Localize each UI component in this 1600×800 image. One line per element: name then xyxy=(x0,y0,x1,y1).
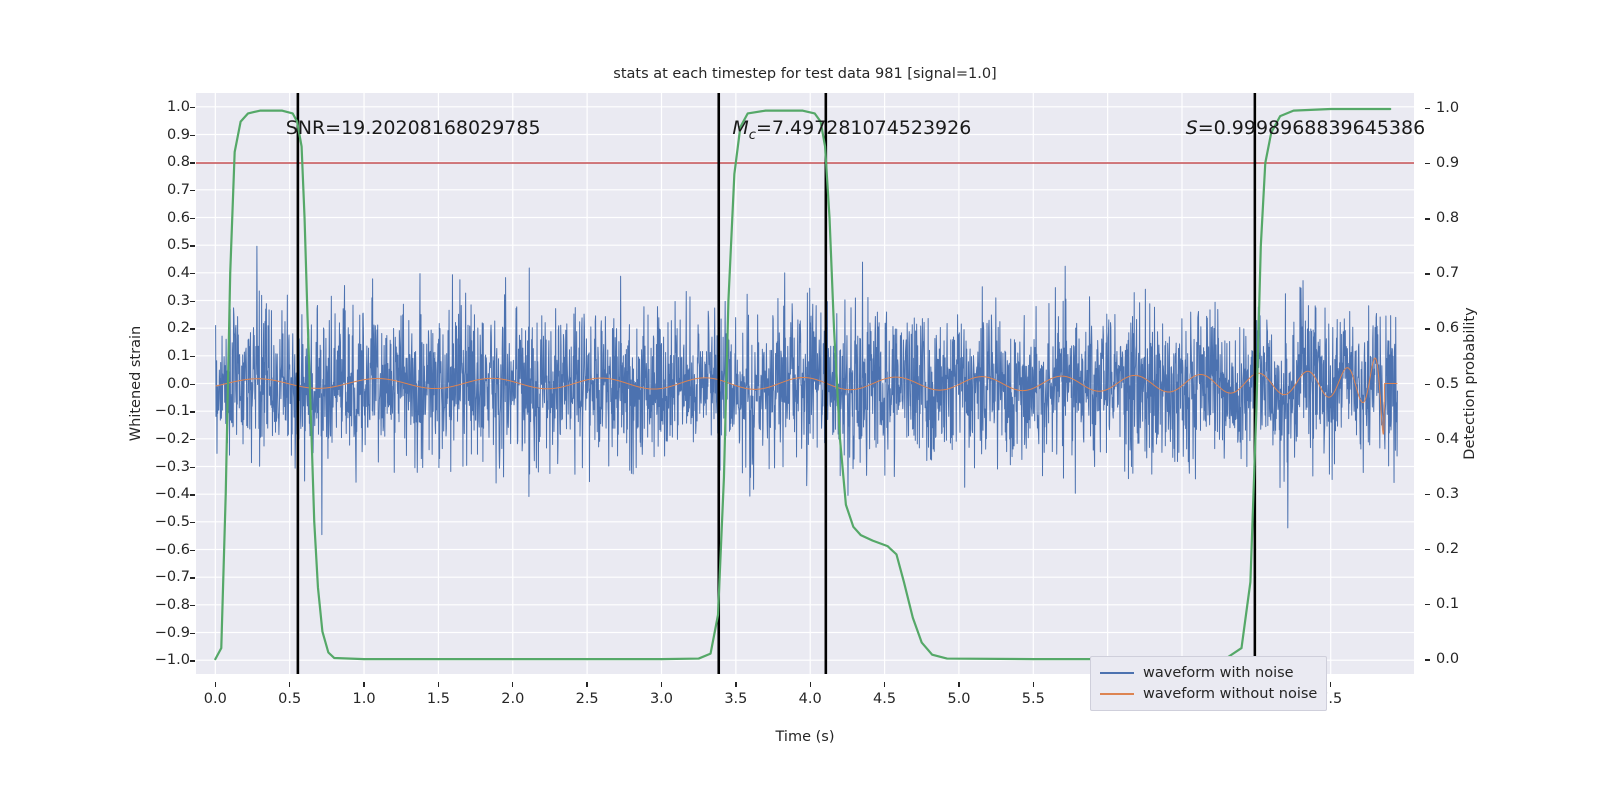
y-tick-label-left: −1.0 xyxy=(144,652,190,668)
x-tick-label: 5.5 xyxy=(1022,691,1045,707)
y-tick-label-left: 0.6 xyxy=(144,210,190,226)
x-tick-label: 4.0 xyxy=(799,691,822,707)
plot-area xyxy=(196,93,1414,674)
x-tick-mark xyxy=(1330,682,1331,687)
legend-label-with-noise: waveform with noise xyxy=(1143,665,1294,681)
y-tick-label-right: 0.9 xyxy=(1436,155,1459,171)
x-axis-label: Time (s) xyxy=(196,729,1414,745)
y-tick-label-left: −0.3 xyxy=(144,459,190,475)
y-tick-label-left: 0.5 xyxy=(144,237,190,253)
x-tick-mark xyxy=(810,682,811,687)
y-tick-mark-left xyxy=(190,162,195,163)
y-tick-label-left: 0.9 xyxy=(144,127,190,143)
y-tick-mark-left xyxy=(190,550,195,551)
y-tick-mark-right xyxy=(1425,273,1430,274)
x-tick-label: 1.5 xyxy=(427,691,450,707)
y-tick-mark-right xyxy=(1425,384,1430,385)
y-tick-label-right: 0.0 xyxy=(1436,651,1459,667)
y-tick-label-right: 0.5 xyxy=(1436,376,1459,392)
series-waveform-with-noise xyxy=(216,246,1398,534)
y-tick-label-left: −0.9 xyxy=(144,625,190,641)
y-tick-mark-left xyxy=(190,301,195,302)
x-tick-mark xyxy=(512,682,513,687)
y-tick-label-left: 0.4 xyxy=(144,265,190,281)
detection-score-annotation: S=0.9998968839645386 xyxy=(1186,117,1426,139)
y-tick-label-left: 1.0 xyxy=(144,99,190,115)
y-tick-label-right: 0.3 xyxy=(1436,486,1459,502)
x-tick-label: 5.0 xyxy=(947,691,970,707)
x-tick-mark xyxy=(586,682,587,687)
y-tick-label-left: −0.8 xyxy=(144,597,190,613)
y-tick-label-left: 0.2 xyxy=(144,320,190,336)
y-axis-left-label-wrap: Whitened strain xyxy=(118,93,142,674)
y-tick-mark-left xyxy=(190,107,195,108)
y-tick-label-left: −0.1 xyxy=(144,403,190,419)
y-tick-mark-right xyxy=(1425,439,1430,440)
chirp-mass-annotation: Mc=7.497281074523926 xyxy=(732,117,971,143)
y-tick-mark-left xyxy=(190,411,195,412)
y-tick-mark-left xyxy=(190,328,195,329)
y-tick-label-right: 0.2 xyxy=(1436,541,1459,557)
y-tick-mark-left xyxy=(190,218,195,219)
x-tick-label: 3.0 xyxy=(650,691,673,707)
y-tick-mark-left xyxy=(190,522,195,523)
y-tick-label-right: 1.0 xyxy=(1436,100,1459,116)
y-tick-mark-left xyxy=(190,660,195,661)
y-tick-mark-left xyxy=(190,439,195,440)
y-tick-mark-left xyxy=(190,190,195,191)
y-tick-mark-left xyxy=(190,356,195,357)
y-tick-mark-left xyxy=(190,135,195,136)
y-tick-label-left: 0.0 xyxy=(144,376,190,392)
x-tick-mark xyxy=(958,682,959,687)
y-tick-mark-left xyxy=(190,467,195,468)
y-tick-label-left: 0.1 xyxy=(144,348,190,364)
x-tick-mark xyxy=(363,682,364,687)
y-tick-mark-right xyxy=(1425,659,1430,660)
legend: waveform with noise waveform without noi… xyxy=(1090,656,1327,711)
x-tick-mark xyxy=(438,682,439,687)
y-tick-mark-right xyxy=(1425,604,1430,605)
y-tick-mark-right xyxy=(1425,163,1430,164)
x-tick-mark xyxy=(215,682,216,687)
legend-item: waveform without noise xyxy=(1100,683,1317,704)
y-tick-label-right: 0.6 xyxy=(1436,320,1459,336)
legend-swatch-with-noise xyxy=(1100,672,1134,674)
chart-title: stats at each timestep for test data 981… xyxy=(196,66,1414,82)
x-tick-mark xyxy=(289,682,290,687)
y-tick-label-left: 0.7 xyxy=(144,182,190,198)
snr-annotation: SNR=19.20208168029785 xyxy=(286,117,541,139)
y-tick-label-left: −0.4 xyxy=(144,486,190,502)
x-tick-label: 2.0 xyxy=(501,691,524,707)
legend-label-without-noise: waveform without noise xyxy=(1143,686,1317,702)
x-tick-label: 1.0 xyxy=(353,691,376,707)
y-tick-label-left: 0.3 xyxy=(144,293,190,309)
x-tick-mark xyxy=(661,682,662,687)
y-tick-mark-left xyxy=(190,494,195,495)
legend-item: waveform with noise xyxy=(1100,662,1317,683)
x-tick-label: 4.5 xyxy=(873,691,896,707)
y-tick-label-left: 0.8 xyxy=(144,154,190,170)
y-tick-mark-left xyxy=(190,273,195,274)
y-tick-mark-left xyxy=(190,245,195,246)
x-tick-mark xyxy=(735,682,736,687)
y-tick-mark-right xyxy=(1425,549,1430,550)
x-tick-label: 0.5 xyxy=(278,691,301,707)
y-tick-mark-right xyxy=(1425,218,1430,219)
x-tick-mark xyxy=(1033,682,1034,687)
y-tick-mark-left xyxy=(190,577,195,578)
y-tick-mark-right xyxy=(1425,328,1430,329)
x-tick-mark xyxy=(884,682,885,687)
plot-canvas xyxy=(196,93,1414,674)
y-tick-label-left: −0.7 xyxy=(144,569,190,585)
y-tick-mark-left xyxy=(190,384,195,385)
y-axis-right-ticks: 1.00.90.80.70.60.50.40.30.20.10.0 xyxy=(1422,93,1482,674)
y-tick-label-right: 0.1 xyxy=(1436,596,1459,612)
y-tick-mark-right xyxy=(1425,108,1430,109)
y-tick-label-right: 0.4 xyxy=(1436,431,1459,447)
y-tick-label-right: 0.7 xyxy=(1436,265,1459,281)
y-tick-label-left: −0.2 xyxy=(144,431,190,447)
x-tick-label: 0.0 xyxy=(204,691,227,707)
y-tick-label-right: 0.8 xyxy=(1436,210,1459,226)
y-tick-mark-left xyxy=(190,633,195,634)
y-axis-left-ticks: 1.00.90.80.70.60.50.40.30.20.10.0−0.1−0.… xyxy=(142,93,190,674)
figure: stats at each timestep for test data 981… xyxy=(0,0,1600,800)
y-tick-label-left: −0.6 xyxy=(144,542,190,558)
y-tick-mark-left xyxy=(190,605,195,606)
x-tick-label: 3.5 xyxy=(724,691,747,707)
y-tick-label-left: −0.5 xyxy=(144,514,190,530)
x-tick-label: 2.5 xyxy=(576,691,599,707)
legend-swatch-without-noise xyxy=(1100,693,1134,695)
y-tick-mark-right xyxy=(1425,494,1430,495)
